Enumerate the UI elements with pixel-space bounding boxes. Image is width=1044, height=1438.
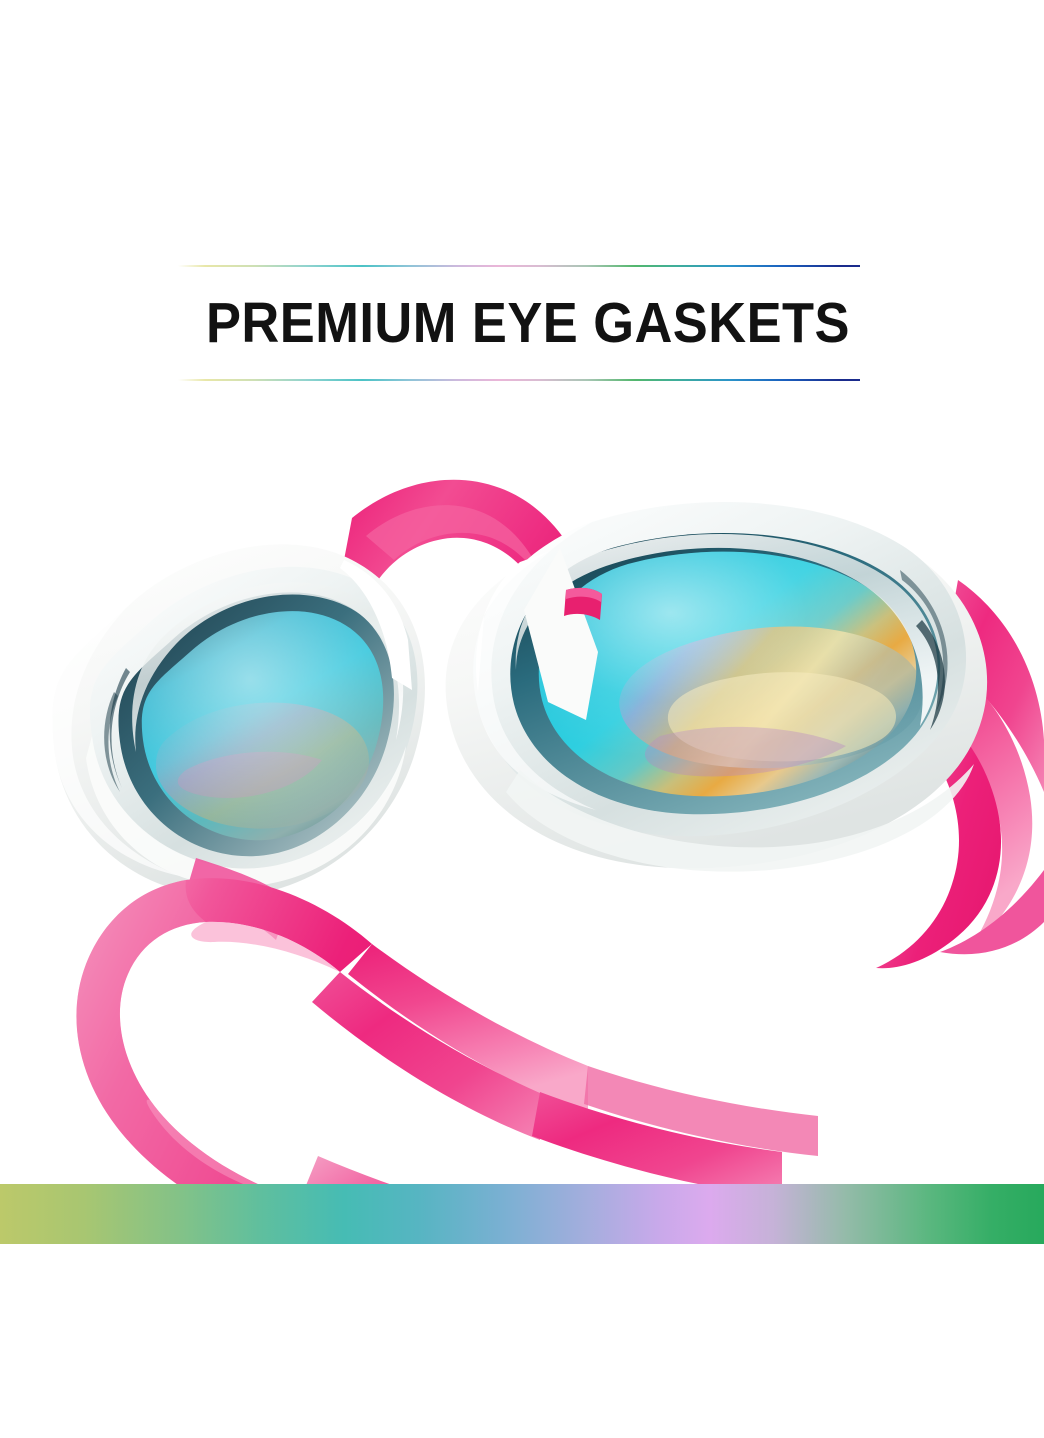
product-photo-swim-goggles — [0, 440, 1044, 1220]
footer-gradient-bar — [0, 1184, 1044, 1244]
headline-block: PREMIUM EYE GASKETS — [178, 265, 860, 381]
divider-top — [178, 265, 860, 267]
divider-bottom — [178, 379, 860, 381]
product-feature-card: PREMIUM EYE GASKETS Provide a comfortabl… — [0, 0, 1044, 1438]
page-title: PREMIUM EYE GASKETS — [206, 287, 795, 359]
